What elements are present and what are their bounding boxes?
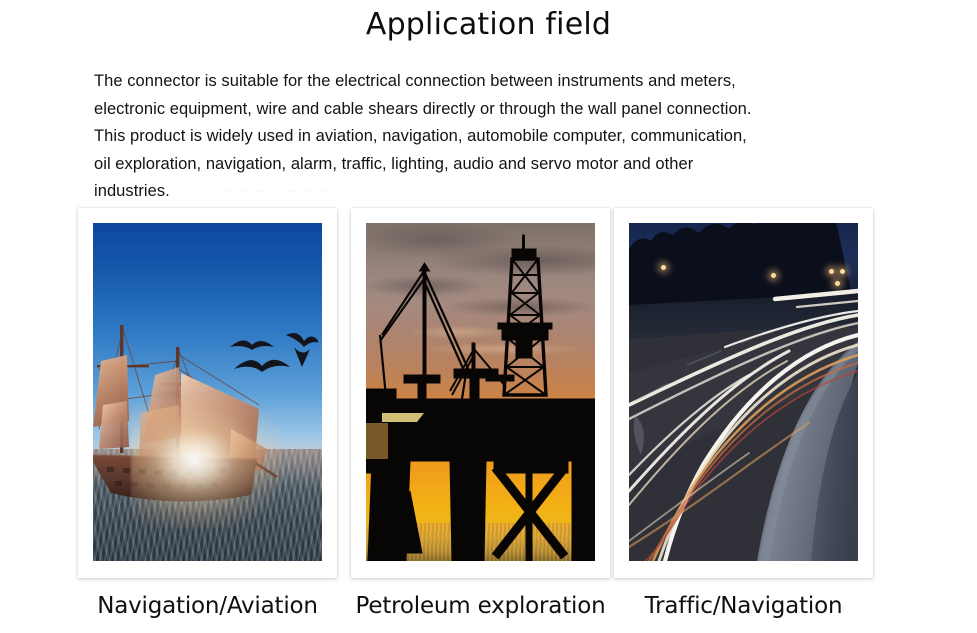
caption-navigation-aviation: Navigation/Aviation (78, 588, 337, 624)
offshore-oil-rig-silhouette-photo (366, 223, 595, 561)
road-and-light-trails (629, 223, 858, 561)
caption-traffic-navigation: Traffic/Navigation (614, 588, 873, 624)
night-traffic-light-trails-photo (629, 223, 858, 561)
gallery-captions: Navigation/Aviation Petroleum exploratio… (78, 588, 873, 633)
gallery-card-navigation-aviation[interactable] (78, 208, 337, 578)
caption-petroleum-exploration: Petroleum exploration (351, 588, 610, 624)
page-title: Application field (0, 4, 977, 46)
gallery-card-traffic-navigation[interactable] (614, 208, 873, 578)
gallery-card-petroleum-exploration[interactable] (351, 208, 610, 578)
sailing-ship-at-sunset-photo (93, 223, 322, 561)
oil-platform-silhouette (366, 223, 595, 561)
gallery-row (78, 208, 873, 580)
sun-flare (131, 398, 281, 528)
flying-birds (228, 333, 318, 391)
intro-paragraph: The connector is suitable for the electr… (94, 68, 884, 206)
